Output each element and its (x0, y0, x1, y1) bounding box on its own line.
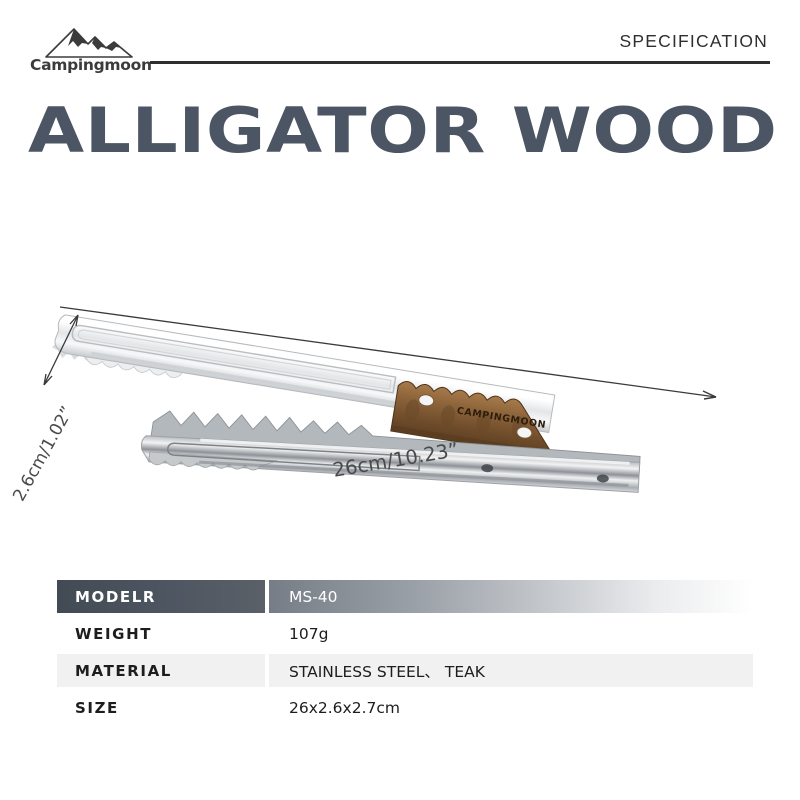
specification-table: MODELR MS-40 WEIGHT 107g MATERIAL STAINL… (57, 580, 753, 724)
brand-name: Campingmoon (30, 56, 148, 74)
product-illustration: CAMPINGMOON (0, 185, 800, 555)
table-row-material: MATERIAL STAINLESS STEEL、 TEAK (57, 654, 753, 687)
table-row-size: SIZE 26x2.6x2.7cm (57, 691, 753, 724)
product-image: CAMPINGMOON (0, 185, 800, 555)
spec-value-model: MS-40 (269, 580, 753, 613)
spec-label-size: SIZE (57, 691, 265, 724)
header-divider (150, 61, 770, 64)
spec-value-weight: 107g (269, 617, 753, 650)
spec-value-size: 26x2.6x2.7cm (269, 691, 753, 724)
mountain-logo-icon (44, 26, 134, 58)
table-row-model: MODELR MS-40 (57, 580, 753, 613)
table-row-weight: WEIGHT 107g (57, 617, 753, 650)
page-title: ALLIGATOR WOOD CLIP (28, 95, 800, 167)
spec-label-material: MATERIAL (57, 654, 265, 687)
brand-logo: Campingmoon (30, 26, 148, 76)
spec-label-weight: WEIGHT (57, 617, 265, 650)
section-label: SPECIFICATION (620, 31, 768, 52)
page-header: Campingmoon SPECIFICATION (0, 0, 800, 90)
specification-page: Campingmoon SPECIFICATION ALLIGATOR WOOD… (0, 0, 800, 800)
spec-value-material: STAINLESS STEEL、 TEAK (269, 654, 753, 687)
spec-label-model: MODELR (57, 580, 265, 613)
